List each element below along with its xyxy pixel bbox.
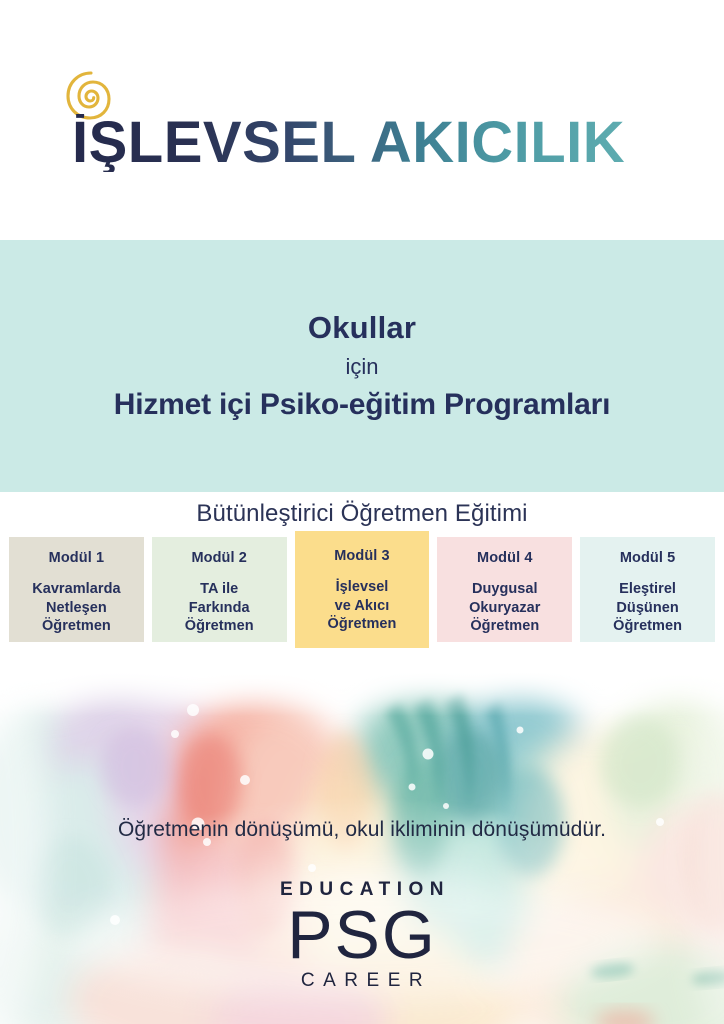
module-description: TA ileFarkındaÖğretmen bbox=[185, 580, 254, 636]
module-description: EleştirelDüşünenÖğretmen bbox=[613, 580, 682, 636]
module-number: Modül 1 bbox=[49, 550, 104, 566]
module-number: Modül 5 bbox=[620, 550, 675, 566]
modules-section: Bütünleştirici Öğretmen Eğitimi Modül 1K… bbox=[0, 492, 724, 672]
program-banner: Okullar için Hizmet içi Psiko-eğitim Pro… bbox=[0, 240, 724, 492]
header-section: İŞLEVSEL AKICILIK bbox=[0, 0, 724, 240]
modules-heading: Bütünleştirici Öğretmen Eğitimi bbox=[0, 500, 724, 528]
module-description: İşlevselve AkıcıÖğretmen bbox=[328, 578, 397, 634]
module-number: Modül 4 bbox=[477, 550, 532, 566]
module-card-2[interactable]: Modül 2TA ileFarkındaÖğretmen bbox=[152, 537, 287, 642]
module-number: Modül 2 bbox=[191, 550, 246, 566]
module-number: Modül 3 bbox=[334, 548, 389, 564]
module-description: KavramlardaNetleşenÖğretmen bbox=[32, 580, 120, 636]
tagline: Öğretmenin dönüşümü, okul ikliminin dönü… bbox=[0, 818, 724, 842]
banner-audience: Okullar bbox=[308, 310, 416, 346]
module-card-5[interactable]: Modül 5EleştirelDüşünenÖğretmen bbox=[580, 537, 715, 642]
module-card-1[interactable]: Modül 1KavramlardaNetleşenÖğretmen bbox=[9, 537, 144, 642]
module-card-4[interactable]: Modül 4DuygusalOkuryazarÖğretmen bbox=[437, 537, 572, 642]
logo-career-text: CAREER bbox=[0, 971, 724, 992]
modules-row: Modül 1KavramlardaNetleşenÖğretmenModül … bbox=[9, 537, 715, 648]
psg-logo: EDUCATION PSG CAREER bbox=[0, 880, 724, 992]
banner-program-name: Hizmet içi Psiko-eğitim Programları bbox=[114, 388, 610, 422]
page-title: İŞLEVSEL AKICILIK bbox=[72, 114, 625, 172]
poster-root: İŞLEVSEL AKICILIK Okullar için Hizmet iç… bbox=[0, 0, 724, 1024]
module-description: DuygusalOkuryazarÖğretmen bbox=[469, 580, 540, 636]
logo-psg-text: PSG bbox=[0, 903, 724, 968]
module-card-3[interactable]: Modül 3İşlevselve AkıcıÖğretmen bbox=[295, 531, 430, 648]
banner-connector: için bbox=[345, 354, 378, 380]
title-row: İŞLEVSEL AKICILIK bbox=[72, 108, 672, 178]
